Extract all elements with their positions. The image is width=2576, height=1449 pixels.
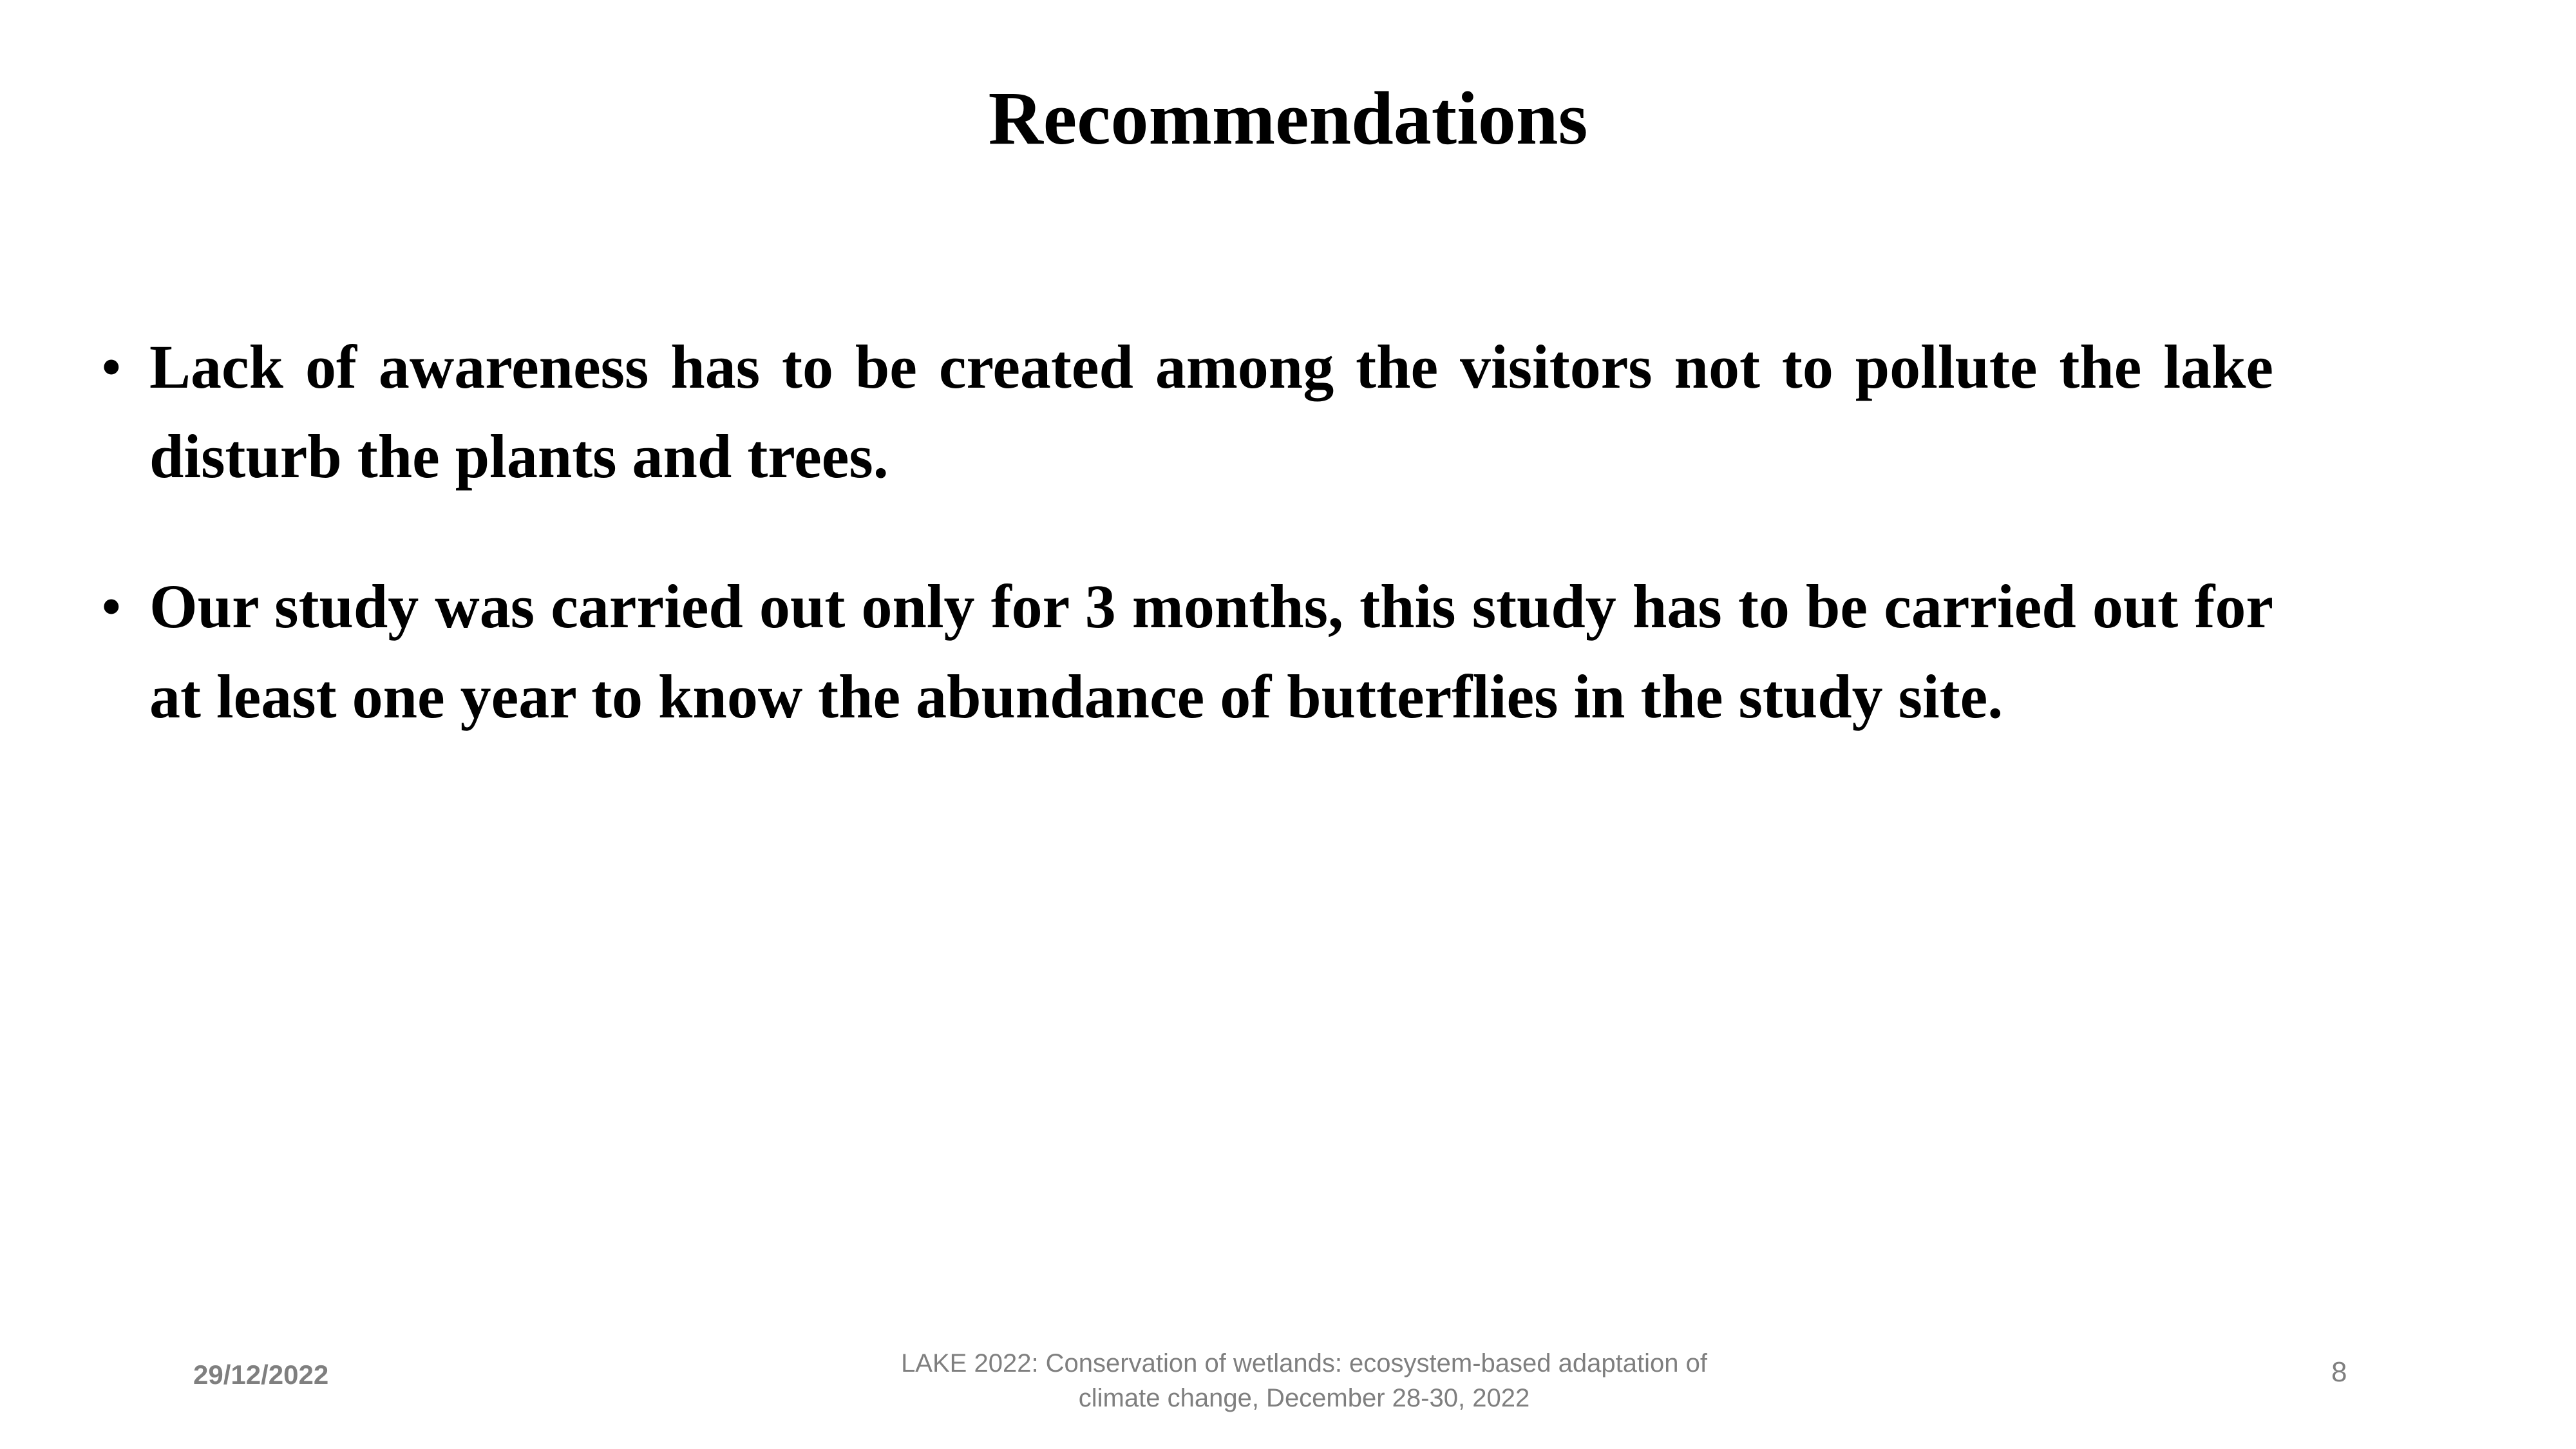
bullet-point-icon: • [100, 322, 139, 412]
bullet-item-text: Lack of awareness has to be created amon… [149, 322, 2273, 501]
footer-date: 29/12/2022 [193, 1359, 328, 1391]
slide-body: • Lack of awareness has to be created am… [97, 322, 2273, 741]
page-title: Recommendations [193, 76, 2383, 161]
bullet-list-item: • Our study was carried out only for 3 m… [97, 562, 2273, 741]
bullet-item-text: Our study was carried out only for 3 mon… [149, 562, 2273, 741]
bullet-list-item: • Lack of awareness has to be created am… [97, 322, 2273, 501]
presentation-slide: Recommendations • Lack of awareness has … [0, 0, 2576, 1449]
footer-page-number: 8 [2331, 1356, 2409, 1390]
bullet-point-icon: • [100, 562, 139, 651]
footer-conference-name: LAKE 2022: Conservation of wetlands: eco… [869, 1346, 1739, 1416]
